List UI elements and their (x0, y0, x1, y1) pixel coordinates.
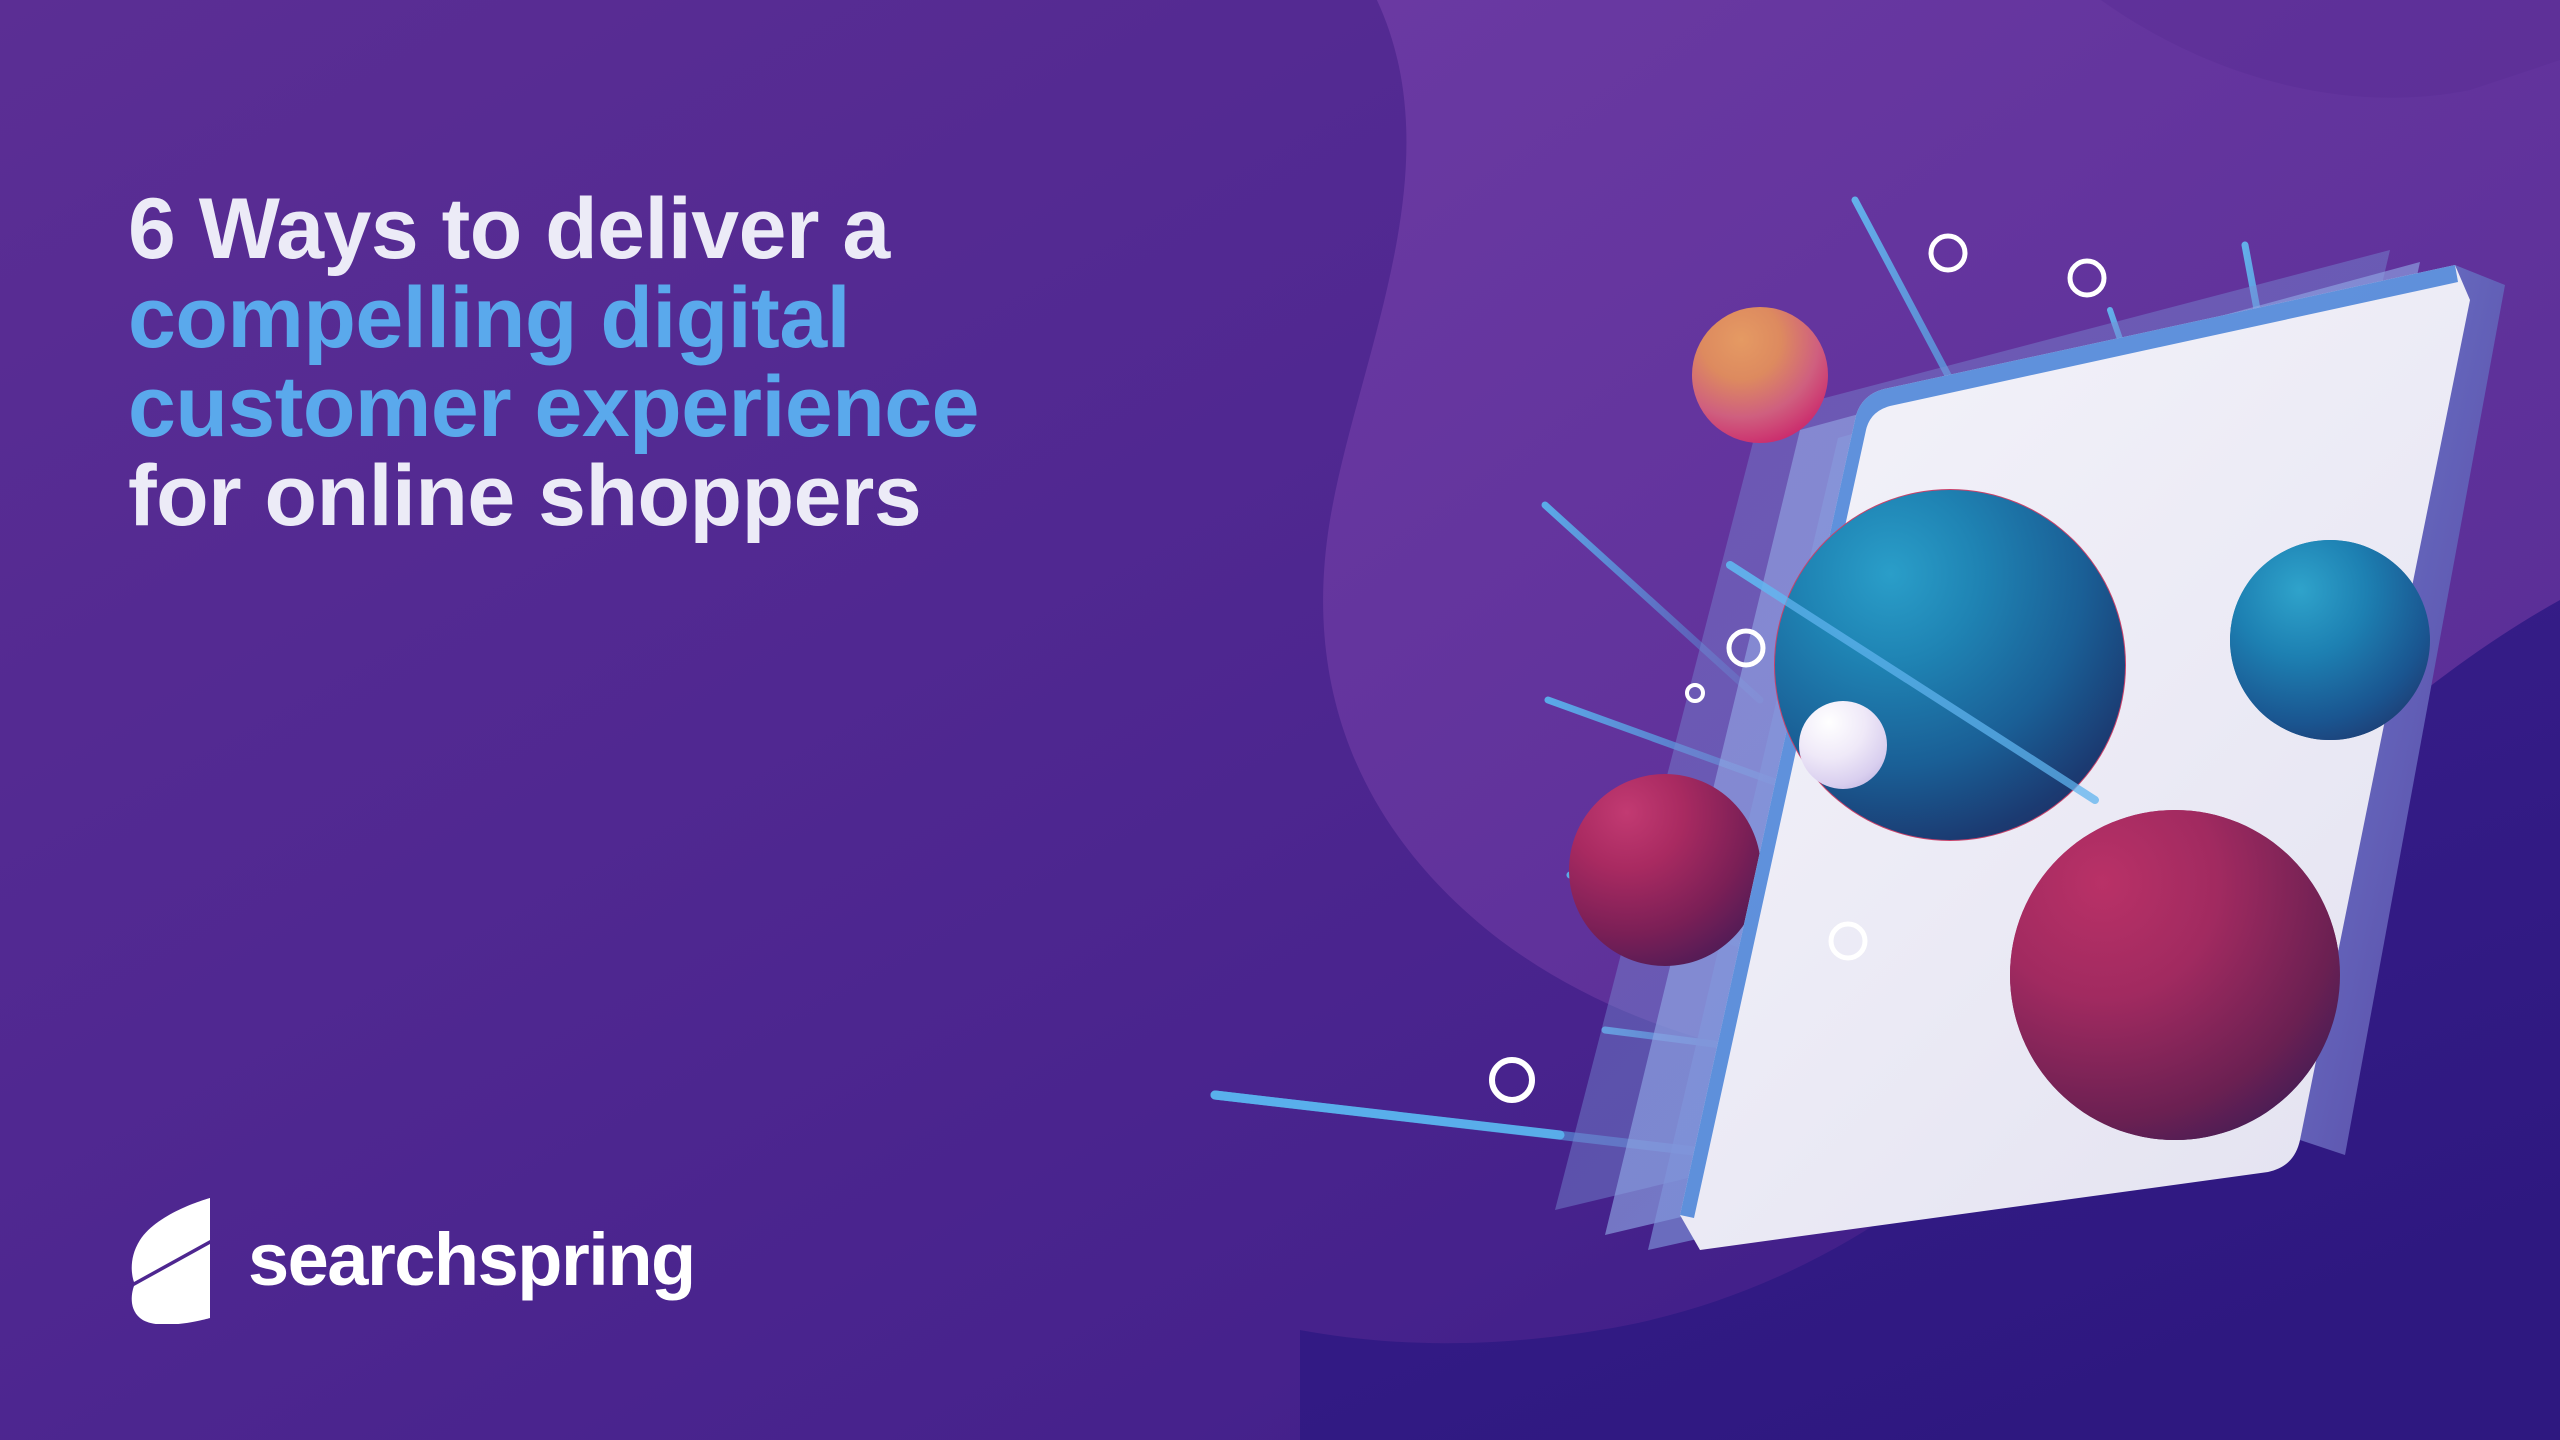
sphere-orange-magenta (1692, 307, 1828, 443)
sphere-teal-small (2230, 540, 2430, 740)
headline-line-2: compelling digital (128, 274, 1128, 363)
headline-line-3: customer experience (128, 363, 1128, 452)
page-title: 6 Ways to deliver a compelling digital c… (128, 185, 1128, 541)
headline-line-4: for online shoppers (128, 452, 1128, 541)
searchspring-leaf-mark-icon (128, 1196, 214, 1324)
sphere-crimson-small (1569, 774, 1761, 966)
brand-logo[interactable]: searchspring (128, 1196, 695, 1324)
brand-wordmark: searchspring (248, 1223, 695, 1297)
headline-line-1: 6 Ways to deliver a (128, 185, 1128, 274)
banner-canvas: 6 Ways to deliver a compelling digital c… (0, 0, 2560, 1440)
sphere-crimson-large (2010, 810, 2340, 1140)
sphere-pale-lavender (1799, 701, 1887, 789)
